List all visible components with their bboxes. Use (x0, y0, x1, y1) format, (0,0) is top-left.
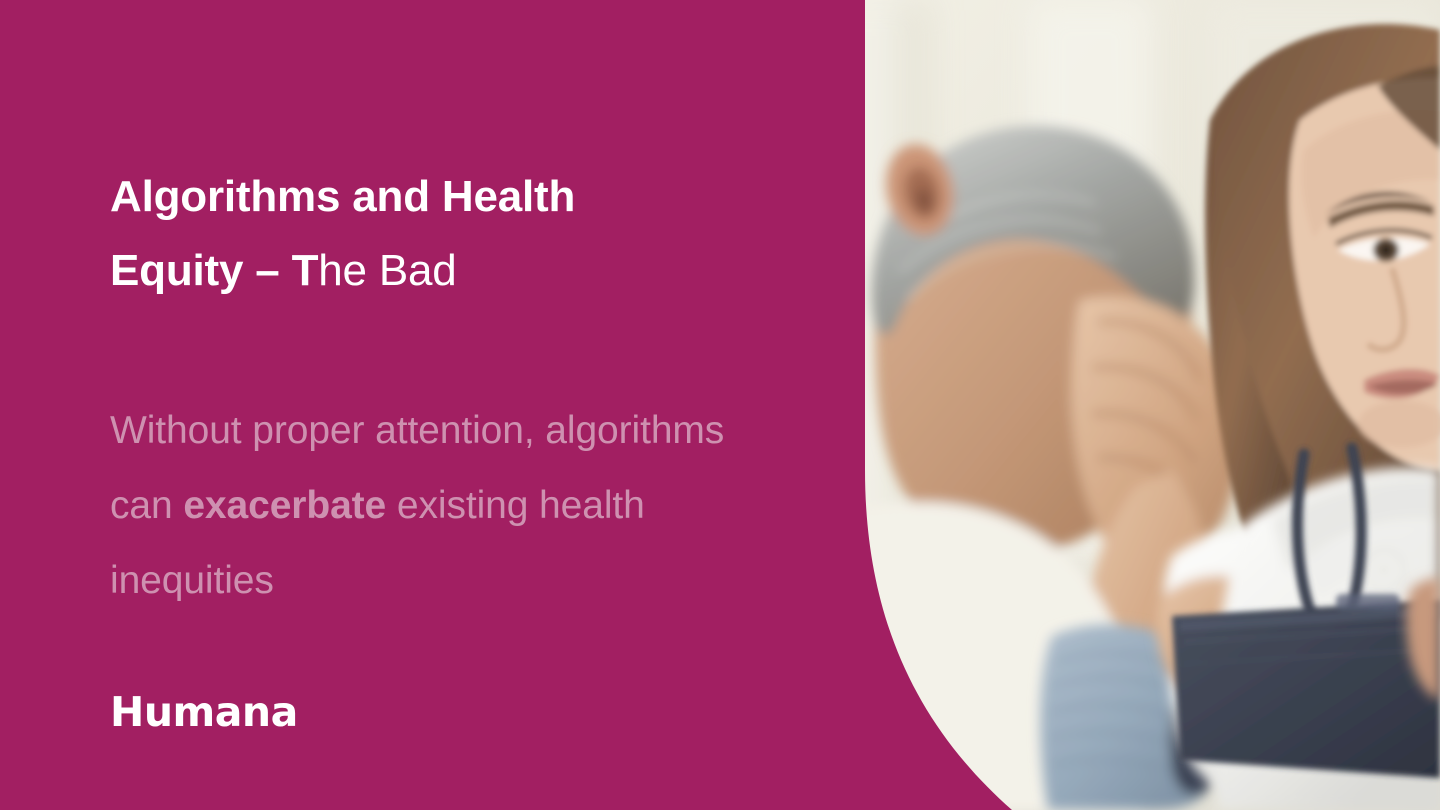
slide-subtitle: Without proper attention, algorithms can… (110, 393, 750, 618)
humana-logo: Humana (110, 693, 310, 735)
humana-wordmark: Humana (110, 693, 310, 735)
title-regular-part: he Bad (318, 246, 456, 295)
slide-title: Algorithms and Health Equity – The Bad (110, 160, 710, 308)
photo-illustration (780, 0, 1440, 810)
slide-photo (780, 0, 1440, 810)
humana-wordmark-text: Humana (110, 693, 298, 735)
slide-content: Algorithms and Health Equity – The Bad W… (110, 0, 770, 810)
presentation-slide: Algorithms and Health Equity – The Bad W… (0, 0, 1440, 810)
subtitle-emphasis-word: exacerbate (183, 484, 386, 527)
